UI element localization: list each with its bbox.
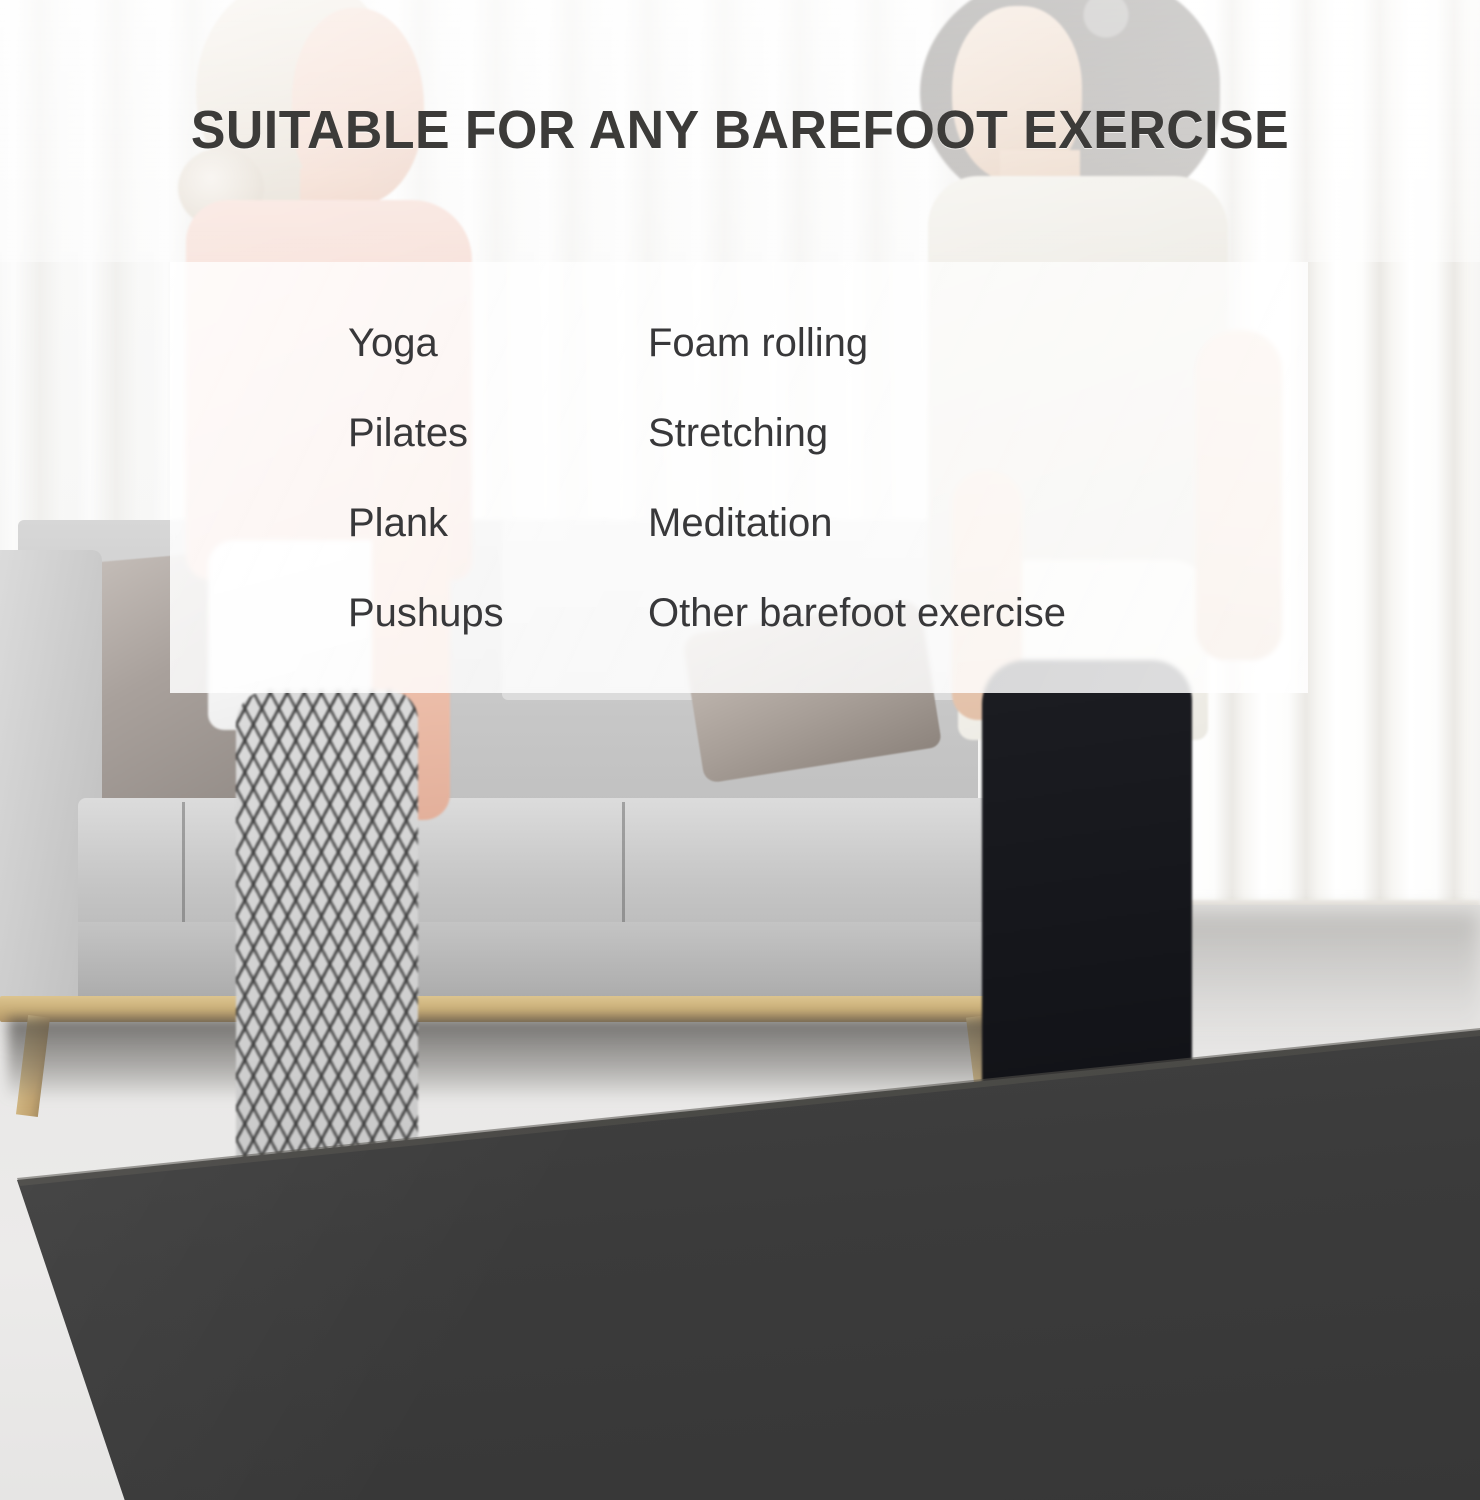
feature-item-foam-rolling: Foam rolling [648, 298, 1308, 388]
large-exercise-mat [0, 1010, 1480, 1500]
feature-item-meditation: Meditation [648, 478, 1308, 568]
product-lifestyle-image: SUITABLE FOR ANY BAREFOOT EXERCISE Yoga … [0, 0, 1480, 1500]
feature-item-yoga: Yoga [348, 298, 605, 388]
feature-list-panel: Yoga Pilates Plank Pushups Foam rolling … [170, 262, 1308, 693]
mat-sheen [0, 1010, 1480, 1500]
feature-item-other-barefoot-exercise: Other barefoot exercise [648, 568, 1308, 658]
feature-column-right: Foam rolling Stretching Meditation Other… [605, 262, 1308, 693]
feature-item-pushups: Pushups [348, 568, 605, 658]
feature-columns: Yoga Pilates Plank Pushups Foam rolling … [170, 262, 1308, 693]
page-title: SUITABLE FOR ANY BAREFOOT EXERCISE [30, 100, 1451, 160]
feature-item-pilates: Pilates [348, 388, 605, 478]
sofa-cushion-seam-2 [622, 802, 625, 942]
sofa-cushion-seam-1 [182, 802, 185, 942]
feature-item-plank: Plank [348, 478, 605, 568]
feature-column-left: Yoga Pilates Plank Pushups [170, 262, 605, 693]
feature-item-stretching: Stretching [648, 388, 1308, 478]
